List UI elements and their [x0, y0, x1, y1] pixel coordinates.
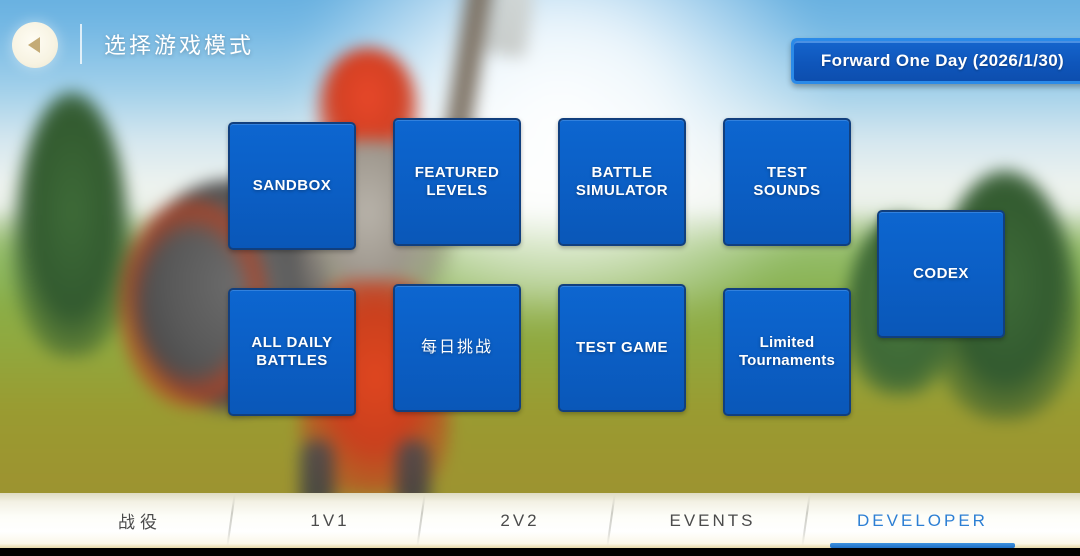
mode-button-label: TEST SOUNDS	[747, 164, 826, 201]
mode-button-test-sounds[interactable]: TEST SOUNDS	[723, 118, 851, 246]
tab-events[interactable]: EVENTS	[625, 493, 800, 548]
header-divider	[80, 24, 82, 64]
mode-button-label: 每日挑战	[415, 338, 499, 358]
back-triangle-icon	[28, 37, 40, 53]
tab-label: DEVELOPER	[857, 511, 988, 531]
mode-button-label: Limited Tournaments	[733, 334, 841, 371]
tab-2v2[interactable]: 2V2	[440, 493, 600, 548]
mode-button-sandbox[interactable]: SANDBOX	[228, 122, 356, 250]
tab-label: EVENTS	[669, 511, 755, 531]
mode-button-test-game[interactable]: TEST GAME	[558, 284, 686, 412]
back-button[interactable]	[12, 22, 58, 68]
tab-战役[interactable]: 战役	[60, 493, 220, 548]
mode-button-all-daily-battles[interactable]: ALL DAILY BATTLES	[228, 288, 356, 416]
tab-label: 2V2	[500, 511, 539, 531]
tab-developer[interactable]: DEVELOPER	[830, 493, 1015, 548]
mode-button-label: CODEX	[907, 265, 975, 283]
mode-button-每日挑战[interactable]: 每日挑战	[393, 284, 521, 412]
page-title: 选择游戏模式	[104, 28, 254, 60]
tab-separator-1	[226, 495, 235, 546]
tab-separator-3	[606, 495, 615, 546]
mode-button-label: BATTLE SIMULATOR	[570, 164, 674, 201]
mode-button-codex[interactable]: CODEX	[877, 210, 1005, 338]
bottom-tab-bar: 战役1V12V2EVENTSDEVELOPER	[0, 493, 1080, 548]
game-mode-select-screen: 选择游戏模式 Forward One Day (2026/1/30) SANDB…	[0, 0, 1080, 556]
tab-separator-4	[801, 495, 810, 546]
forward-one-day-button[interactable]: Forward One Day (2026/1/30)	[791, 38, 1080, 84]
mode-button-label: ALL DAILY BATTLES	[245, 334, 338, 371]
mode-button-label: TEST GAME	[570, 339, 674, 357]
bottom-black-strip	[0, 548, 1080, 556]
mode-button-label: SANDBOX	[247, 177, 338, 195]
tab-label: 1V1	[310, 511, 349, 531]
mode-button-limited-tournaments[interactable]: Limited Tournaments	[723, 288, 851, 416]
tab-separator-2	[416, 495, 425, 546]
mode-button-battle-simulator[interactable]: BATTLE SIMULATOR	[558, 118, 686, 246]
forward-one-day-label: Forward One Day (2026/1/30)	[821, 51, 1064, 71]
mode-button-featured-levels[interactable]: FEATURED LEVELS	[393, 118, 521, 246]
tab-1v1[interactable]: 1V1	[250, 493, 410, 548]
tab-label: 战役	[118, 508, 162, 533]
mode-button-label: FEATURED LEVELS	[409, 164, 506, 201]
